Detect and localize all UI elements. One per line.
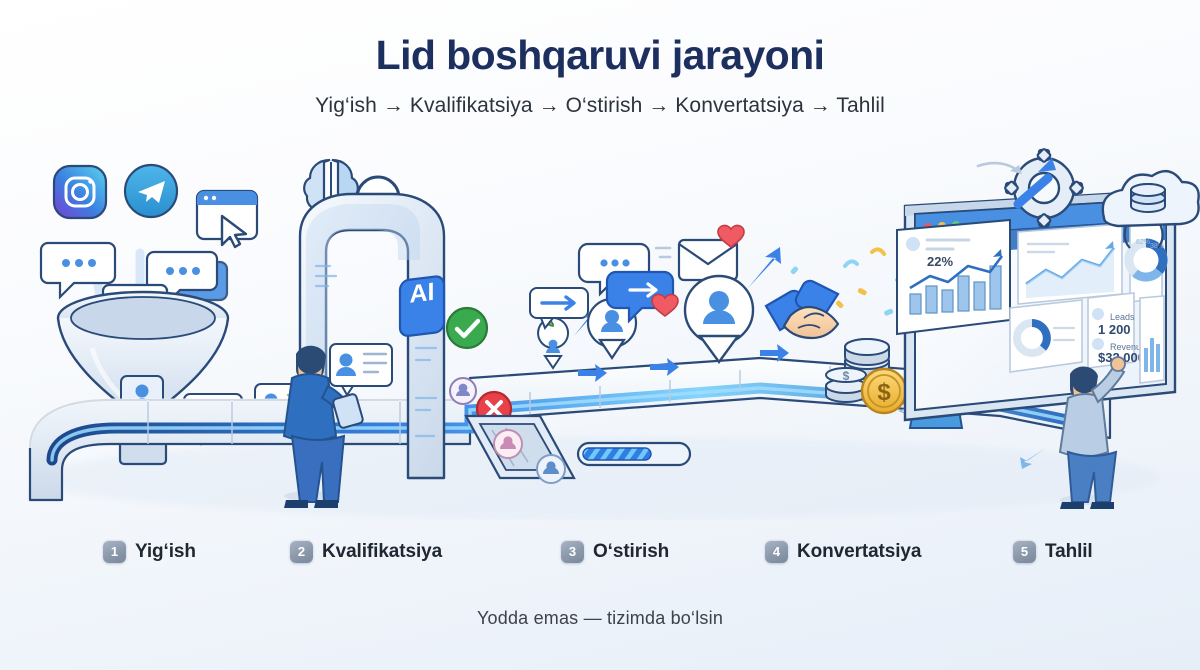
svg-text:22%: 22% [927,254,953,269]
svg-text:Leads: Leads [1110,312,1135,322]
step-label: O‘stirish [593,541,669,563]
browser-window-icon [197,191,257,247]
step-label: Yig‘ish [135,541,196,563]
envelope-heart-icon [656,225,744,280]
svg-text:$: $ [877,379,891,406]
step-item-4[interactable]: 4 Konvertatsiya [765,540,921,563]
step-item-1[interactable]: 1 Yig‘ish [103,540,196,563]
heart-icon [652,294,678,316]
page-subtitle: Yig‘ish → Kvalifikatsiya → O‘stirish → K… [0,94,1200,118]
ai-badge: AI [400,275,444,336]
step-label: Konvertatsiya [797,541,921,563]
step-item-5[interactable]: 5 Tahlil [1013,540,1093,563]
rejected-lead-pin [537,455,565,483]
stage-qualification: AI [284,160,574,508]
coins-icon: $ $ [826,339,906,413]
telegram-icon [125,165,177,217]
step-number-badge: 2 [290,540,313,563]
header: Lid boshqaruvi jarayoni Yig‘ish → Kvalif… [0,34,1200,118]
page-title: Lid boshqaruvi jarayoni [0,34,1200,77]
step-number-badge: 3 [561,540,584,563]
infographic-canvas: Lid boshqaruvi jarayoni Yig‘ish → Kvalif… [0,0,1200,670]
process-illustration: AI [0,148,1200,520]
footer-tagline: Yodda emas — tizimda bo‘lsin [0,608,1200,629]
step-number-badge: 4 [765,540,788,563]
check-circle-icon [447,308,487,348]
step-item-3[interactable]: 3 O‘stirish [561,540,669,563]
lead-pin-large [685,276,753,362]
svg-text:62%: 62% [1136,239,1150,246]
dollar-coin-icon: $ [862,369,906,413]
progress-bar [578,443,690,465]
svg-text:38%: 38% [1150,243,1164,250]
kpi-card-chart: 22% [897,220,1010,334]
step-number-badge: 5 [1013,540,1036,563]
svg-text:$: $ [843,369,850,383]
instagram-icon [54,166,106,218]
rejected-lead-pin [450,378,476,404]
svg-text:1 200: 1 200 [1098,322,1131,337]
lead-card [330,344,392,395]
step-label: Tahlil [1045,541,1093,563]
step-legend: 1 Yig‘ish 2 Kvalifikatsiya 3 O‘stirish 4… [0,540,1200,580]
step-label: Kvalifikatsiya [322,541,442,563]
arrow-up-icon [748,247,781,288]
step-item-2[interactable]: 2 Kvalifikatsiya [290,540,442,563]
rejected-lead-pin [494,430,522,458]
svg-text:AI: AI [410,278,435,309]
step-number-badge: 1 [103,540,126,563]
handshake-icon [766,281,838,338]
